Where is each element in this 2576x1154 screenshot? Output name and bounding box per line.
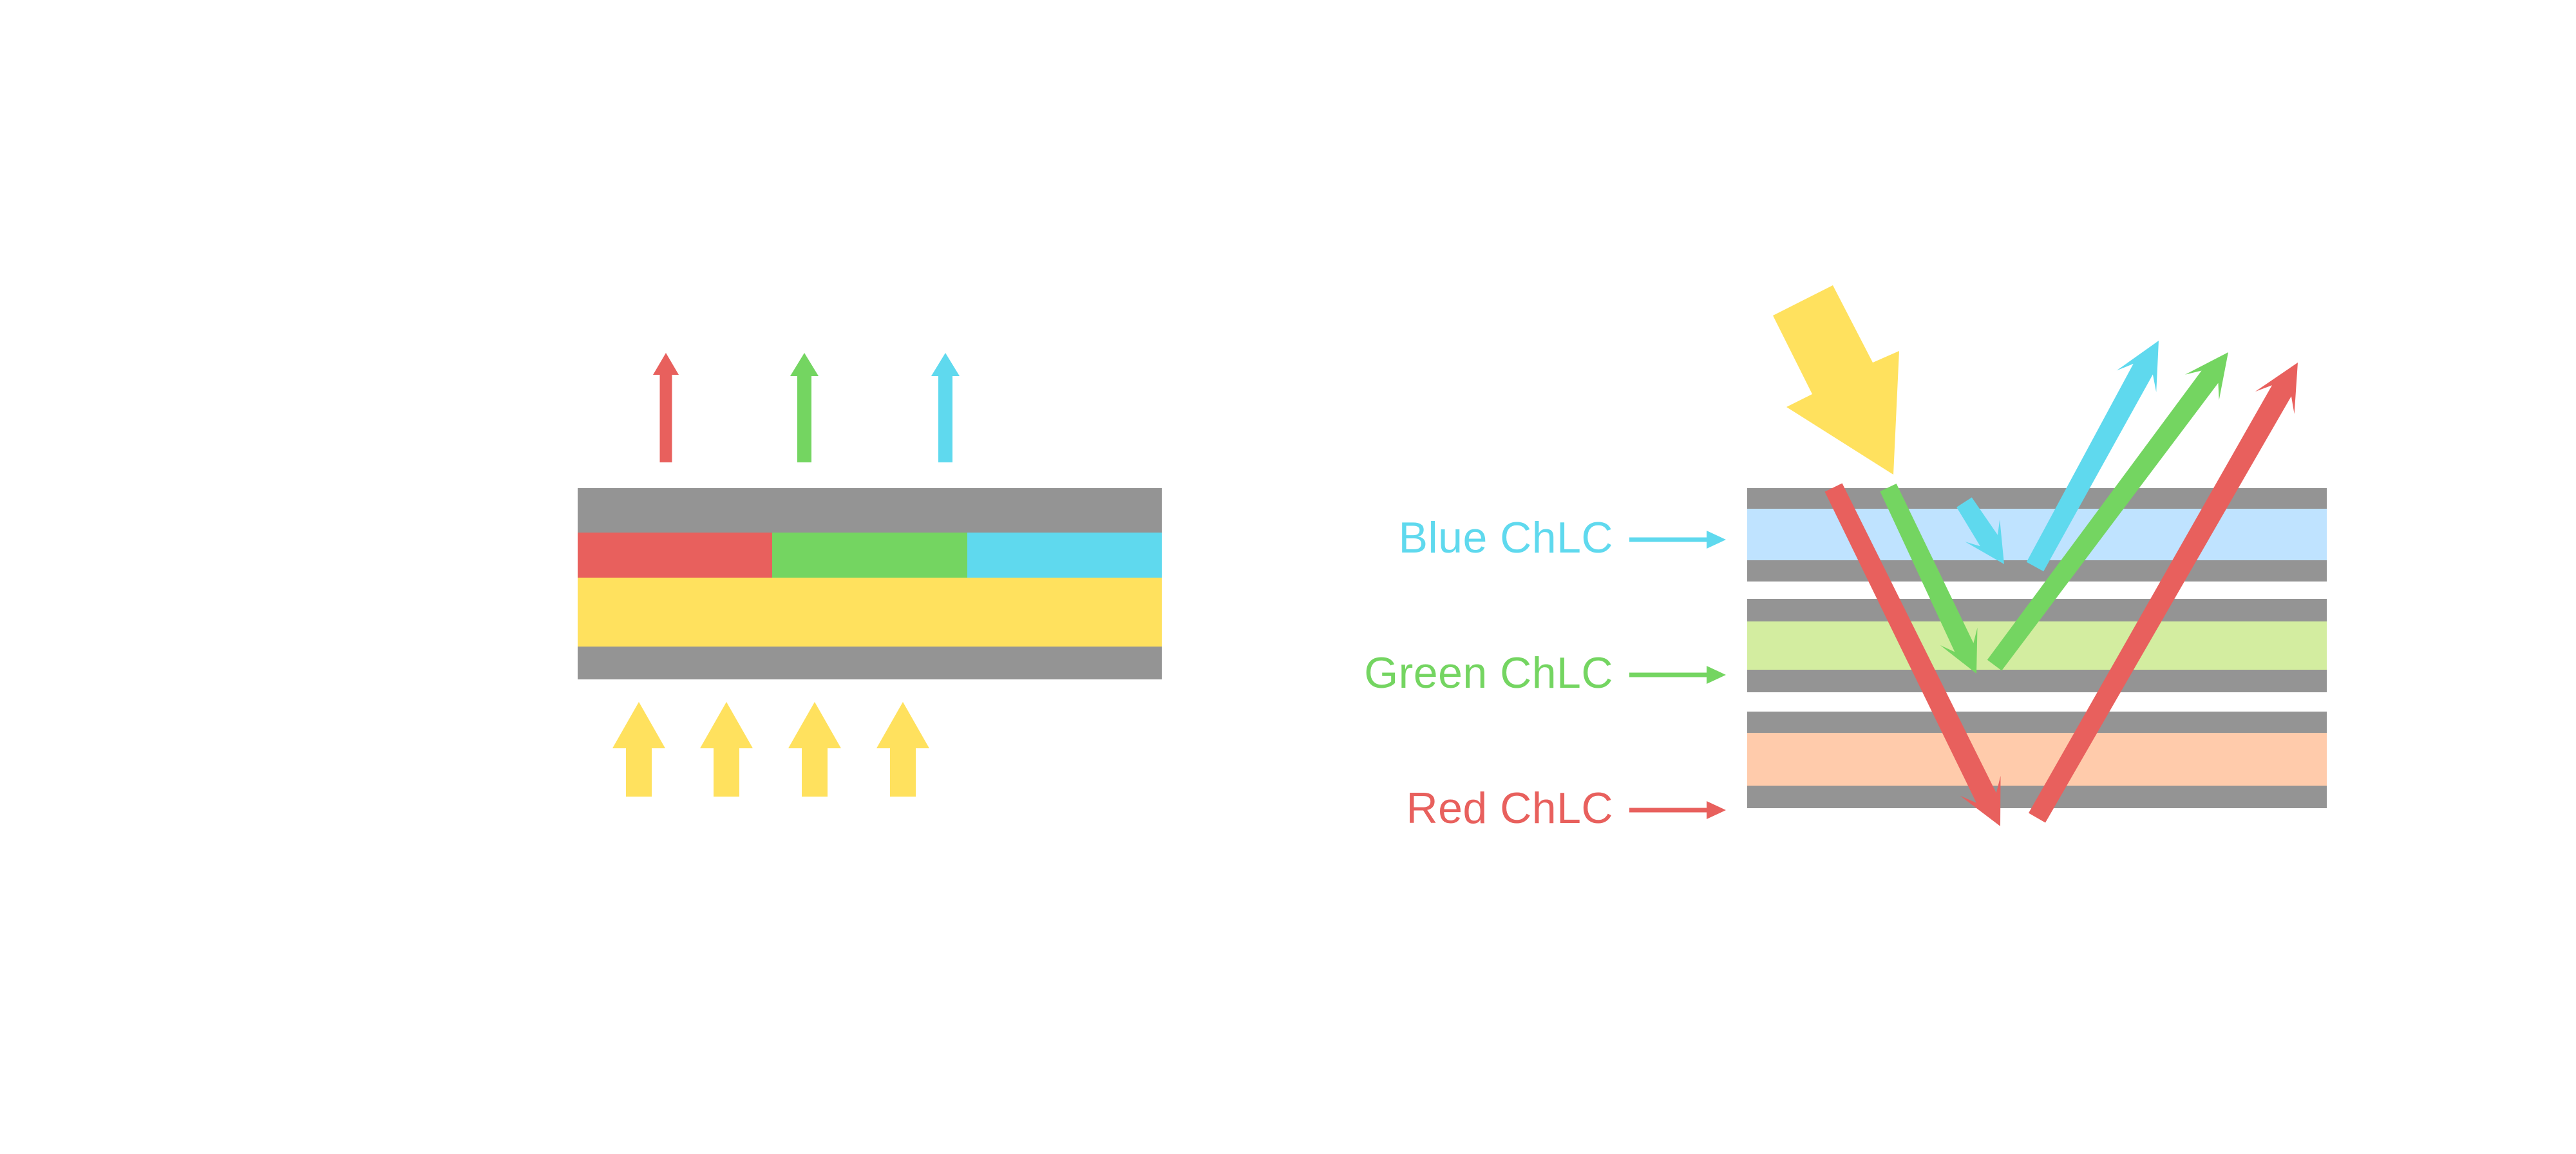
layer-green-bottom-electrode: [1747, 670, 2327, 692]
emitted-light-arrow-cyan: [931, 353, 960, 462]
emitted-light-arrow-green: [790, 353, 819, 462]
chlc-layer-label-green: Green ChLC: [1364, 648, 1613, 697]
layer-red-top-electrode: [1747, 712, 2327, 733]
layer-blue-filter: [967, 533, 1162, 578]
backlight-arrow-2: [700, 702, 753, 797]
left-panel: [578, 353, 1162, 797]
chlc-label-pointer-red: [1629, 801, 1726, 819]
layer-green-filter: [772, 533, 967, 578]
backlight-arrow-4: [876, 702, 929, 797]
chlc-display-comparison-figure: Blue ChLCGreen ChLCRed ChLC: [0, 0, 2576, 1154]
layer-backlight-layer: [578, 578, 1162, 647]
layer-top-electrode: [578, 488, 1162, 533]
chlc-layer-label-blue: Blue ChLC: [1399, 513, 1613, 562]
chlc-label-pointer-green: [1629, 666, 1726, 684]
chlc-layer-label-red: Red ChLC: [1406, 784, 1614, 833]
emitted-light-arrow-red: [653, 353, 679, 462]
backlight-arrow-1: [612, 702, 665, 797]
chlc-label-pointer-blue-head: [1707, 531, 1726, 549]
layer-bottom-electrode: [578, 647, 1162, 679]
right-panel: Blue ChLCGreen ChLCRed ChLC: [1364, 285, 2327, 833]
layer-red-filter: [578, 533, 772, 578]
diagram-canvas: Blue ChLCGreen ChLCRed ChLC: [0, 0, 2576, 1154]
ambient-light-arrow: [1773, 285, 1899, 475]
chlc-label-pointer-red-head: [1707, 801, 1726, 819]
chlc-label-pointer-blue: [1629, 531, 1726, 549]
chlc-label-pointer-green-head: [1707, 666, 1726, 684]
layer-green-chlc-layer: [1747, 621, 2327, 670]
layer-red-chlc-layer: [1747, 733, 2327, 786]
backlight-arrow-3: [788, 702, 841, 797]
